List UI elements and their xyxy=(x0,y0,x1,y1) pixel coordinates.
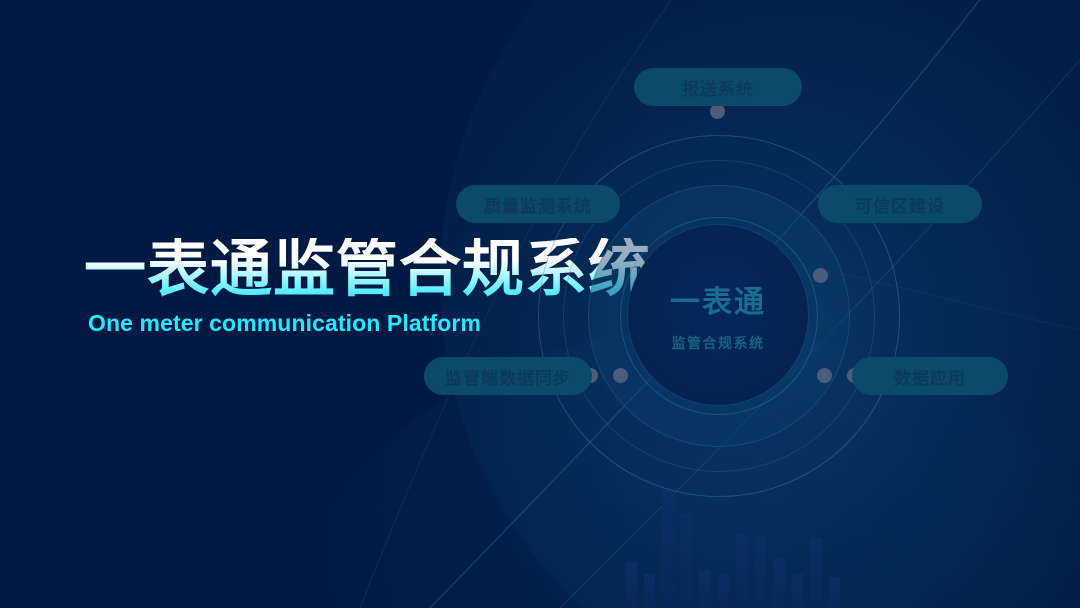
chart-bar xyxy=(829,577,841,608)
chart-bar xyxy=(792,574,804,608)
title-block: 一表通监管合规系统 One meter communication Platfo… xyxy=(84,238,684,337)
chart-bar xyxy=(736,534,748,608)
page-title: 一表通监管合规系统 xyxy=(84,238,684,302)
node-regulatory-data-sync[interactable]: 监管端数据同步 xyxy=(424,357,592,395)
slide-canvas: 一表通监管合规系统 One meter communication Platfo… xyxy=(0,0,1080,608)
connector-dot-lower-right-a xyxy=(817,368,832,383)
connector-dot-top xyxy=(710,104,725,119)
node-trusted-zone-construction[interactable]: 可信区建设 xyxy=(818,185,982,223)
node-reporting-system[interactable]: 报送系统 xyxy=(634,68,802,106)
hub-subtitle: 监管合规系统 xyxy=(672,333,765,353)
node-data-application[interactable]: 数据应用 xyxy=(852,357,1008,395)
chart-bar xyxy=(810,538,822,608)
chart-bar xyxy=(681,514,693,608)
chart-bar xyxy=(644,574,656,608)
chart-bar xyxy=(662,490,674,608)
chart-bar xyxy=(718,574,730,608)
hub-label: 一表通 监管合规系统 xyxy=(628,225,808,405)
chart-bar xyxy=(755,538,767,608)
hub-title: 一表通 xyxy=(670,277,766,321)
page-subtitle: One meter communication Platform xyxy=(88,310,684,337)
chart-bar xyxy=(773,558,785,608)
node-quality-monitoring-system[interactable]: 质量监测系统 xyxy=(456,185,620,223)
chart-bar xyxy=(699,570,711,608)
connector-dot-inner-right xyxy=(813,268,828,283)
connector-dot-lower-left-b xyxy=(613,368,628,383)
chart-bar xyxy=(625,562,637,608)
decorative-bar-chart xyxy=(625,488,840,608)
